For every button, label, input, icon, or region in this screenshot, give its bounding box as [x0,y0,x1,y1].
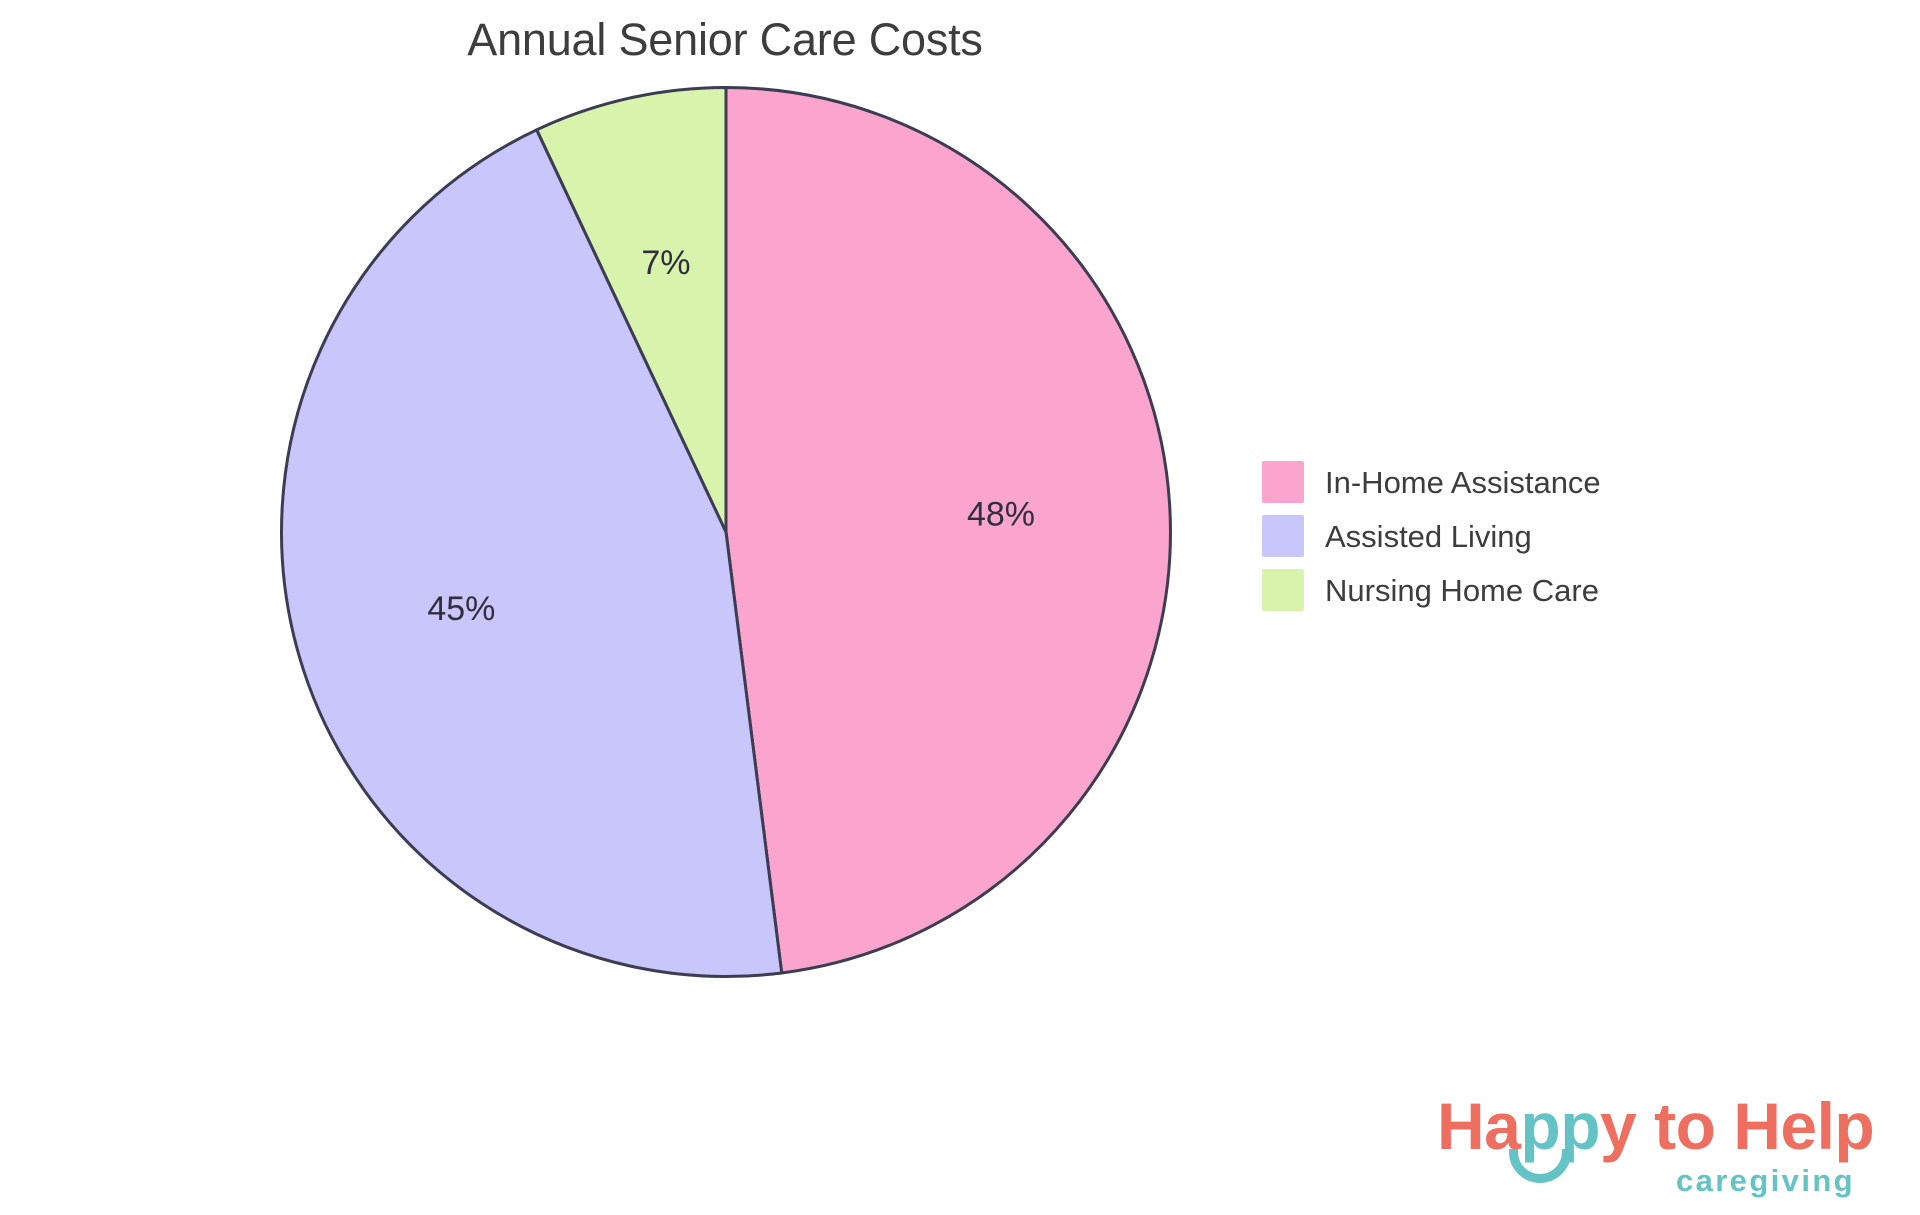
legend: In-Home Assistance Assisted Living Nursi… [1262,455,1692,617]
legend-label-nursing-home-care: Nursing Home Care [1325,575,1599,606]
pie-slice[interactable] [726,88,1170,973]
legend-swatch-assisted-living [1262,515,1304,557]
legend-label-in-home-assistance: In-Home Assistance [1325,467,1601,498]
logo-word-to: to [1636,1089,1733,1163]
logo-letter-y: y [1600,1089,1636,1163]
logo-tagline: caregiving [1676,1165,1855,1196]
pie-slice-group [282,88,1171,977]
brand-logo: Happy to Help caregiving [1437,1093,1857,1203]
pie-chart-svg: 48%45%7% [278,84,1174,980]
pie-slice-label: 45% [427,590,495,628]
legend-swatch-in-home-assistance [1262,461,1304,503]
legend-item-assisted-living[interactable]: Assisted Living [1262,509,1692,563]
legend-item-nursing-home-care[interactable]: Nursing Home Care [1262,563,1692,617]
smile-icon [1509,1149,1571,1183]
pie-slice-label: 7% [641,244,690,282]
logo-wordmark: Happy to Help [1437,1093,1874,1159]
logo-word-help: Help [1733,1089,1874,1163]
legend-item-in-home-assistance[interactable]: In-Home Assistance [1262,455,1692,509]
pie-slice-label: 48% [967,496,1035,534]
legend-label-assisted-living: Assisted Living [1325,521,1532,552]
pie-chart: 48%45%7% [278,84,1174,980]
logo-letter-h: H [1437,1089,1484,1163]
legend-swatch-nursing-home-care [1262,569,1304,611]
page-title: Annual Senior Care Costs [0,14,1450,66]
